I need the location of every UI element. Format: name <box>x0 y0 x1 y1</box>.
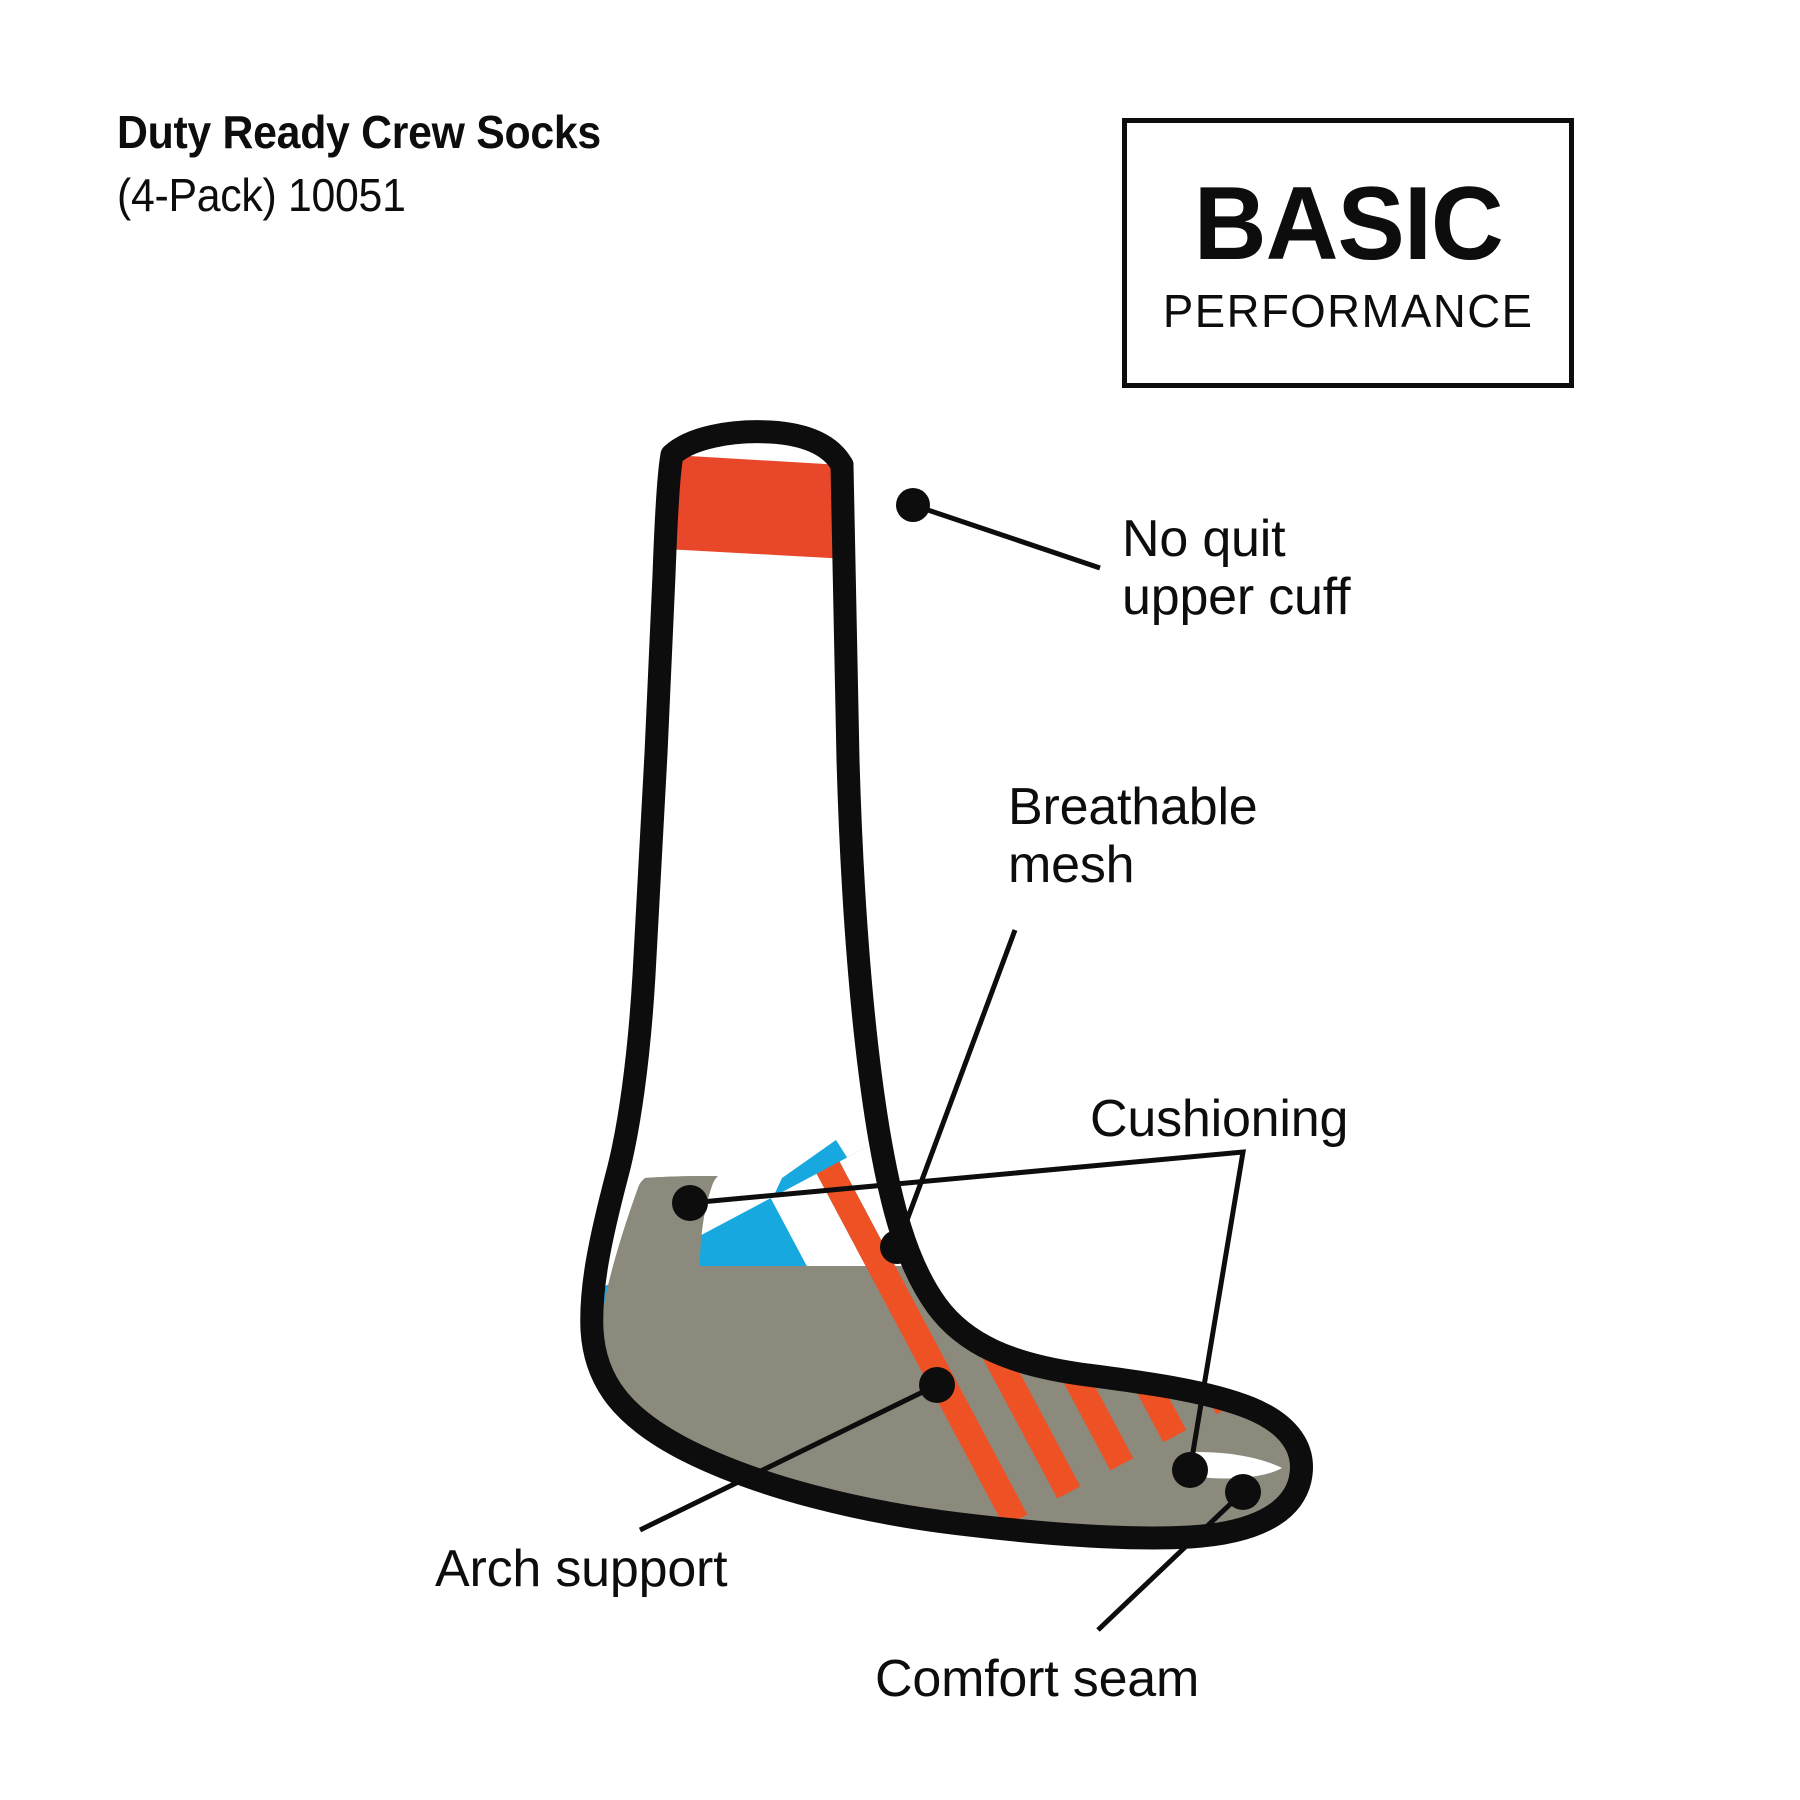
callout-label-arch-support: Arch support <box>435 1540 727 1598</box>
anchor-dot-mesh <box>880 1230 914 1264</box>
leader-mesh <box>897 930 1015 1247</box>
anchor-dot-comfort-seam <box>1225 1474 1261 1510</box>
anchor-dot-cushioning-toe <box>1172 1452 1208 1488</box>
callout-label-cushioning: Cushioning <box>1090 1090 1348 1148</box>
anchor-dot-upper-cuff <box>896 488 930 522</box>
sock-illustration <box>0 0 1800 1800</box>
callout-label-mesh: Breathable mesh <box>1008 778 1258 894</box>
anchor-dot-cushioning-heel <box>672 1185 708 1221</box>
callout-label-upper-cuff: No quit upper cuff <box>1122 510 1350 626</box>
leader-upper-cuff <box>913 505 1100 568</box>
anchor-dot-arch-support <box>919 1367 955 1403</box>
callout-label-comfort-seam: Comfort seam <box>875 1650 1199 1708</box>
product-diagram-page: Duty Ready Crew Socks (4-Pack) 10051 BAS… <box>0 0 1800 1800</box>
